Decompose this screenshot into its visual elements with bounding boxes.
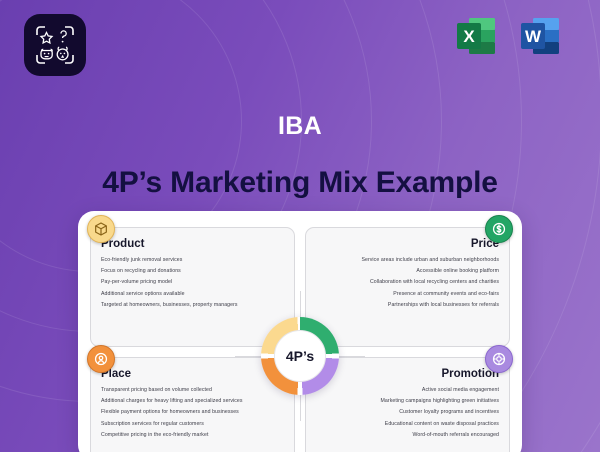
brand-title: IBA <box>0 112 600 141</box>
quadrant-title: Place <box>101 368 284 381</box>
list-item: Word-of-mouth referrals encouraged <box>316 433 499 439</box>
list-item: Additional charges for heavy lifting and… <box>101 399 284 405</box>
quadrant-product[interactable]: Product Eco-friendly junk removal servic… <box>90 227 295 347</box>
poster-canvas: X W IBA 4P’s Marketing Mix Example Produ… <box>0 0 600 452</box>
list-item: Competitive pricing in the eco-friendly … <box>101 433 284 439</box>
svg-text:X: X <box>463 27 475 46</box>
connector-left <box>235 356 261 357</box>
quadrant-list: Eco-friendly junk removal services Focus… <box>101 258 284 309</box>
package-box-icon <box>87 215 115 243</box>
list-item: Eco-friendly junk removal services <box>101 258 284 264</box>
page-title: 4P’s Marketing Mix Example <box>0 166 600 200</box>
list-item: Focus on recycling and donations <box>101 269 284 275</box>
quadrant-list: Active social media engagement Marketing… <box>316 388 499 439</box>
quadrant-title: Product <box>101 238 284 251</box>
quadrant-title: Promotion <box>316 368 499 381</box>
list-item: Pay-per-volume pricing model <box>101 280 284 286</box>
word-icon[interactable]: W <box>516 12 564 60</box>
list-item: Additional service options available <box>101 292 284 298</box>
connector-top <box>300 291 301 317</box>
donut-center: 4P’s <box>274 330 326 382</box>
excel-icon[interactable]: X <box>452 12 500 60</box>
quadrant-title: Price <box>316 238 499 251</box>
target-megaphone-icon <box>485 345 513 373</box>
connector-right <box>339 356 365 357</box>
list-item: Presence at community events and eco-fai… <box>316 292 499 298</box>
list-item: Educational content on waste disposal pr… <box>316 422 499 428</box>
list-item: Accessible online booking platform <box>316 269 499 275</box>
dollar-coin-icon <box>485 215 513 243</box>
donut-center-label: 4P’s <box>286 348 314 364</box>
quadrant-list: Service areas include urban and suburban… <box>316 258 499 309</box>
list-item: Targeted at homeowners, businesses, prop… <box>101 303 284 309</box>
list-item: Service areas include urban and suburban… <box>316 258 499 264</box>
four-ps-donut-chart: 4P’s <box>261 317 339 395</box>
svg-text:W: W <box>525 27 542 46</box>
quadrant-price[interactable]: Price Service areas include urban and su… <box>305 227 510 347</box>
location-pin-icon <box>87 345 115 373</box>
list-item: Subscription services for regular custom… <box>101 422 284 428</box>
list-item: Customer loyalty programs and incentives <box>316 410 499 416</box>
list-item: Marketing campaigns highlighting green i… <box>316 399 499 405</box>
pet-grid-logo-icon[interactable] <box>24 14 86 76</box>
list-item: Transparent pricing based on volume coll… <box>101 388 284 394</box>
list-item: Partnerships with local businesses for r… <box>316 303 499 309</box>
list-item: Flexible payment options for homeowners … <box>101 410 284 416</box>
connector-bottom <box>300 395 301 421</box>
quadrant-list: Transparent pricing based on volume coll… <box>101 388 284 439</box>
list-item: Active social media engagement <box>316 388 499 394</box>
list-item: Collaboration with local recycling cente… <box>316 280 499 286</box>
